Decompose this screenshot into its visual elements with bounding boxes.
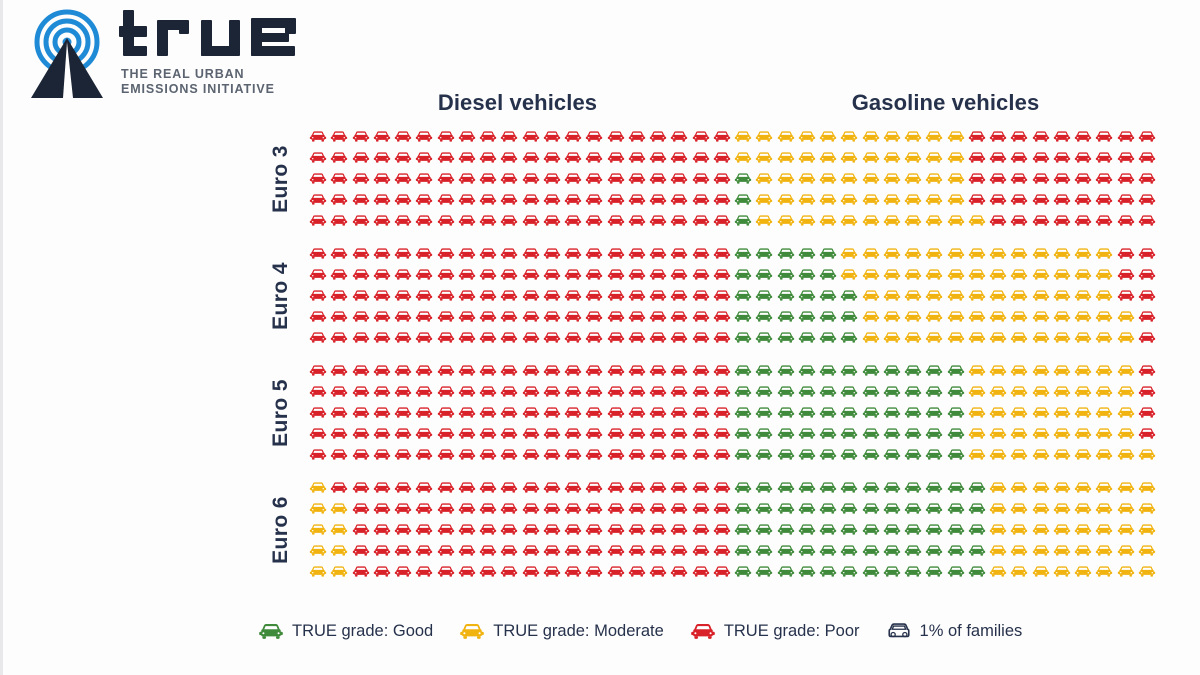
car-cell-good bbox=[924, 498, 945, 519]
car-icon bbox=[394, 213, 412, 228]
car-cell-poor bbox=[712, 444, 733, 465]
car-cell-poor bbox=[414, 243, 435, 264]
car-cell-moderate bbox=[1052, 519, 1073, 540]
car-icon bbox=[373, 309, 391, 324]
car-icon bbox=[479, 213, 497, 228]
car-icon bbox=[925, 246, 943, 261]
tagline-line-1: THE REAL URBAN bbox=[121, 67, 311, 82]
car-icon bbox=[394, 150, 412, 165]
car-cell-poor bbox=[691, 264, 712, 285]
car-icon bbox=[713, 480, 731, 495]
car-icon bbox=[904, 564, 922, 579]
car-cell-moderate bbox=[861, 243, 882, 264]
car-icon bbox=[543, 192, 561, 207]
car-icon bbox=[543, 150, 561, 165]
car-cell-poor bbox=[393, 519, 414, 540]
car-icon bbox=[649, 288, 667, 303]
car-cell-moderate bbox=[1031, 327, 1052, 348]
car-icon bbox=[330, 426, 348, 441]
car-icon bbox=[1053, 288, 1071, 303]
car-icon bbox=[904, 405, 922, 420]
car-icon bbox=[904, 309, 922, 324]
car-icon bbox=[1095, 363, 1113, 378]
car-icon bbox=[330, 267, 348, 282]
car-cell-good bbox=[946, 444, 967, 465]
car-icon bbox=[1074, 447, 1092, 462]
car-cell-moderate bbox=[1009, 285, 1030, 306]
car-icon bbox=[947, 309, 965, 324]
car-cell-moderate bbox=[818, 168, 839, 189]
car-icon bbox=[1032, 246, 1050, 261]
car-icon bbox=[734, 330, 752, 345]
car-cell-poor bbox=[351, 126, 372, 147]
car-cell-good bbox=[818, 360, 839, 381]
car-cell-poor bbox=[414, 423, 435, 444]
car-cell-poor bbox=[669, 306, 690, 327]
car-icon bbox=[649, 171, 667, 186]
car-icon bbox=[1117, 330, 1135, 345]
car-cell-poor bbox=[584, 285, 605, 306]
car-icon bbox=[415, 384, 433, 399]
car-icon bbox=[415, 405, 433, 420]
car-cell-moderate bbox=[1094, 381, 1115, 402]
car-cell-moderate bbox=[1116, 444, 1137, 465]
car-icon bbox=[585, 384, 603, 399]
car-cell-poor bbox=[542, 360, 563, 381]
car-icon bbox=[713, 564, 731, 579]
car-icon bbox=[500, 129, 518, 144]
car-icon bbox=[458, 267, 476, 282]
car-cell-moderate bbox=[946, 210, 967, 231]
car-cell-poor bbox=[351, 210, 372, 231]
car-cell-moderate bbox=[1009, 423, 1030, 444]
car-cell-good bbox=[882, 381, 903, 402]
car-icon bbox=[713, 288, 731, 303]
car-cell-poor bbox=[584, 168, 605, 189]
car-cell-moderate bbox=[797, 147, 818, 168]
car-cell-poor bbox=[499, 327, 520, 348]
car-cell-moderate bbox=[861, 147, 882, 168]
car-cell-poor bbox=[563, 360, 584, 381]
car-cell-poor bbox=[308, 444, 329, 465]
car-cell-good bbox=[754, 381, 775, 402]
car-icon bbox=[883, 363, 901, 378]
car-icon bbox=[755, 384, 773, 399]
car-cell-moderate bbox=[967, 423, 988, 444]
car-icon bbox=[437, 129, 455, 144]
car-icon bbox=[458, 363, 476, 378]
car-icon bbox=[500, 309, 518, 324]
car-cell-poor bbox=[584, 264, 605, 285]
car-icon bbox=[777, 213, 795, 228]
car-cell-poor bbox=[393, 285, 414, 306]
car-icon bbox=[585, 522, 603, 537]
car-cell-moderate bbox=[1031, 306, 1052, 327]
car-icon bbox=[968, 522, 986, 537]
car-cell-poor bbox=[478, 381, 499, 402]
car-cell-poor bbox=[521, 561, 542, 582]
car-cell-poor bbox=[691, 210, 712, 231]
car-icon bbox=[713, 363, 731, 378]
car-icon bbox=[777, 522, 795, 537]
car-cell-moderate bbox=[1094, 264, 1115, 285]
car-cell-poor bbox=[393, 444, 414, 465]
car-icon bbox=[692, 150, 710, 165]
car-icon bbox=[628, 426, 646, 441]
car-icon bbox=[798, 384, 816, 399]
car-icon bbox=[352, 246, 370, 261]
car-icon bbox=[734, 447, 752, 462]
car-icon bbox=[1074, 330, 1092, 345]
car-cell-poor bbox=[414, 444, 435, 465]
car-cell-poor bbox=[669, 561, 690, 582]
car-cell-moderate bbox=[329, 540, 350, 561]
car-cell-good bbox=[754, 360, 775, 381]
car-cell-moderate bbox=[1073, 498, 1094, 519]
car-icon bbox=[330, 405, 348, 420]
car-cell-poor bbox=[1009, 210, 1030, 231]
car-cell-poor bbox=[372, 381, 393, 402]
car-icon bbox=[883, 267, 901, 282]
car-icon bbox=[734, 363, 752, 378]
car-cell-poor bbox=[712, 519, 733, 540]
car-icon bbox=[670, 129, 688, 144]
car-cell-moderate bbox=[776, 189, 797, 210]
car-cell-moderate bbox=[988, 264, 1009, 285]
car-icon bbox=[394, 564, 412, 579]
car-icon bbox=[500, 246, 518, 261]
car-icon bbox=[1032, 522, 1050, 537]
car-icon bbox=[777, 129, 795, 144]
car-icon bbox=[585, 501, 603, 516]
car-cell-moderate bbox=[1073, 327, 1094, 348]
car-cell-moderate bbox=[861, 327, 882, 348]
car-cell-poor bbox=[436, 210, 457, 231]
car-cell-moderate bbox=[1073, 381, 1094, 402]
car-cell-poor bbox=[521, 306, 542, 327]
car-icon bbox=[925, 309, 943, 324]
car-cell-poor bbox=[457, 189, 478, 210]
car-icon bbox=[415, 363, 433, 378]
car-icon bbox=[1032, 480, 1050, 495]
car-cell-poor bbox=[372, 285, 393, 306]
car-icon bbox=[692, 309, 710, 324]
car-icon bbox=[1010, 501, 1028, 516]
car-icon bbox=[500, 150, 518, 165]
car-cell-poor bbox=[457, 168, 478, 189]
car-icon bbox=[734, 288, 752, 303]
car-cell-poor bbox=[691, 498, 712, 519]
car-icon bbox=[479, 288, 497, 303]
car-icon bbox=[925, 501, 943, 516]
car-icon bbox=[947, 192, 965, 207]
car-cell-good bbox=[733, 168, 754, 189]
car-cell-poor bbox=[1009, 126, 1030, 147]
car-icon bbox=[1010, 171, 1028, 186]
car-cell-poor bbox=[563, 444, 584, 465]
car-cell-poor bbox=[691, 381, 712, 402]
car-cell-good bbox=[818, 444, 839, 465]
car-cell-poor bbox=[351, 477, 372, 498]
car-cell-poor bbox=[542, 477, 563, 498]
car-cell-good bbox=[776, 264, 797, 285]
car-cell-poor bbox=[584, 360, 605, 381]
car-icon bbox=[309, 447, 327, 462]
car-cell-good bbox=[754, 402, 775, 423]
car-icon bbox=[373, 501, 391, 516]
car-icon bbox=[330, 543, 348, 558]
car-icon bbox=[1095, 564, 1113, 579]
car-icon bbox=[522, 129, 540, 144]
car-icon bbox=[500, 330, 518, 345]
car-icon bbox=[734, 192, 752, 207]
car-cell-poor bbox=[967, 189, 988, 210]
car-cell-poor bbox=[669, 423, 690, 444]
car-icon bbox=[415, 447, 433, 462]
car-cell-moderate bbox=[903, 327, 924, 348]
car-icon bbox=[798, 330, 816, 345]
car-cell-moderate bbox=[1094, 561, 1115, 582]
car-icon bbox=[755, 447, 773, 462]
car-icon bbox=[925, 405, 943, 420]
car-icon bbox=[670, 330, 688, 345]
car-cell-good bbox=[818, 402, 839, 423]
car-icon bbox=[628, 447, 646, 462]
car-icon bbox=[522, 447, 540, 462]
car-cell-moderate bbox=[1073, 243, 1094, 264]
car-icon bbox=[607, 246, 625, 261]
car-icon bbox=[819, 309, 837, 324]
car-icon bbox=[500, 384, 518, 399]
car-icon bbox=[989, 192, 1007, 207]
car-cell-poor bbox=[499, 210, 520, 231]
car-cell-good bbox=[818, 423, 839, 444]
car-cell-moderate bbox=[329, 498, 350, 519]
car-cell-poor bbox=[584, 126, 605, 147]
car-icon bbox=[564, 246, 582, 261]
car-icon bbox=[1095, 480, 1113, 495]
car-icon bbox=[862, 363, 880, 378]
chart-legend: TRUE grade: GoodTRUE grade: ModerateTRUE… bbox=[258, 613, 1163, 649]
car-icon bbox=[1074, 426, 1092, 441]
pictogram-block-diesel-euro-5 bbox=[308, 360, 733, 465]
car-icon bbox=[564, 330, 582, 345]
car-cell-poor bbox=[691, 540, 712, 561]
car-icon bbox=[585, 363, 603, 378]
car-icon bbox=[649, 363, 667, 378]
car-icon bbox=[819, 330, 837, 345]
car-icon bbox=[1053, 405, 1071, 420]
car-cell-poor bbox=[712, 210, 733, 231]
car-cell-poor bbox=[691, 126, 712, 147]
car-cell-good bbox=[754, 243, 775, 264]
car-cell-poor bbox=[1073, 126, 1094, 147]
car-icon bbox=[692, 192, 710, 207]
car-cell-good bbox=[861, 444, 882, 465]
car-cell-moderate bbox=[839, 168, 860, 189]
car-cell-good bbox=[797, 264, 818, 285]
car-cell-moderate bbox=[1031, 498, 1052, 519]
car-cell-poor bbox=[712, 402, 733, 423]
car-icon bbox=[500, 543, 518, 558]
car-cell-moderate bbox=[818, 189, 839, 210]
car-cell-poor bbox=[563, 381, 584, 402]
car-icon bbox=[1138, 480, 1156, 495]
car-icon bbox=[1095, 447, 1113, 462]
car-icon bbox=[459, 621, 485, 642]
car-cell-poor bbox=[627, 519, 648, 540]
car-cell-poor bbox=[308, 285, 329, 306]
car-icon bbox=[989, 501, 1007, 516]
car-icon bbox=[883, 309, 901, 324]
car-cell-poor bbox=[329, 381, 350, 402]
car-icon bbox=[415, 480, 433, 495]
car-icon bbox=[798, 543, 816, 558]
car-cell-good bbox=[882, 540, 903, 561]
car-icon bbox=[628, 564, 646, 579]
car-cell-moderate bbox=[1137, 498, 1158, 519]
car-icon bbox=[989, 543, 1007, 558]
car-cell-poor bbox=[414, 189, 435, 210]
car-icon bbox=[458, 543, 476, 558]
car-cell-good bbox=[754, 306, 775, 327]
car-cell-poor bbox=[478, 519, 499, 540]
car-icon bbox=[564, 447, 582, 462]
car-cell-moderate bbox=[1073, 477, 1094, 498]
car-cell-poor bbox=[691, 285, 712, 306]
car-icon bbox=[500, 405, 518, 420]
car-cell-good bbox=[967, 519, 988, 540]
car-icon bbox=[904, 288, 922, 303]
car-cell-poor bbox=[521, 264, 542, 285]
car-icon bbox=[585, 309, 603, 324]
car-cell-poor bbox=[691, 189, 712, 210]
car-cell-moderate bbox=[903, 147, 924, 168]
car-icon bbox=[1010, 192, 1028, 207]
car-icon bbox=[798, 522, 816, 537]
car-cell-poor bbox=[1137, 402, 1158, 423]
car-icon bbox=[649, 426, 667, 441]
car-icon bbox=[543, 447, 561, 462]
car-cell-poor bbox=[584, 519, 605, 540]
car-cell-poor bbox=[627, 540, 648, 561]
legend-item-3: 1% of families bbox=[886, 621, 1023, 642]
car-cell-moderate bbox=[1073, 360, 1094, 381]
car-cell-poor bbox=[627, 168, 648, 189]
car-cell-moderate bbox=[1052, 381, 1073, 402]
car-cell-poor bbox=[648, 306, 669, 327]
car-icon bbox=[734, 246, 752, 261]
car-cell-poor bbox=[521, 168, 542, 189]
car-cell-poor bbox=[988, 210, 1009, 231]
car-icon bbox=[755, 288, 773, 303]
car-icon bbox=[458, 309, 476, 324]
car-icon bbox=[458, 150, 476, 165]
car-cell-moderate bbox=[924, 306, 945, 327]
car-icon bbox=[415, 267, 433, 282]
car-cell-moderate bbox=[776, 168, 797, 189]
euro-standard-row: Euro 3 bbox=[258, 126, 1168, 243]
car-cell-moderate bbox=[967, 444, 988, 465]
car-cell-poor bbox=[712, 540, 733, 561]
car-cell-good bbox=[946, 423, 967, 444]
car-icon bbox=[670, 363, 688, 378]
car-cell-poor bbox=[308, 402, 329, 423]
car-cell-good bbox=[839, 285, 860, 306]
car-cell-poor bbox=[499, 243, 520, 264]
car-cell-poor bbox=[372, 210, 393, 231]
car-icon bbox=[777, 171, 795, 186]
car-cell-poor bbox=[351, 519, 372, 540]
car-icon bbox=[607, 480, 625, 495]
car-cell-poor bbox=[648, 360, 669, 381]
car-icon bbox=[585, 543, 603, 558]
car-icon bbox=[670, 522, 688, 537]
car-icon bbox=[564, 480, 582, 495]
car-icon bbox=[1138, 501, 1156, 516]
car-icon bbox=[352, 426, 370, 441]
car-icon bbox=[925, 384, 943, 399]
car-cell-poor bbox=[499, 498, 520, 519]
car-icon bbox=[925, 447, 943, 462]
car-cell-moderate bbox=[946, 147, 967, 168]
car-icon bbox=[479, 246, 497, 261]
car-cell-poor bbox=[329, 477, 350, 498]
car-icon bbox=[522, 330, 540, 345]
car-cell-good bbox=[733, 210, 754, 231]
car-cell-poor bbox=[478, 540, 499, 561]
car-cell-moderate bbox=[946, 327, 967, 348]
car-cell-poor bbox=[542, 243, 563, 264]
car-icon bbox=[1117, 363, 1135, 378]
car-icon bbox=[522, 480, 540, 495]
car-icon bbox=[437, 309, 455, 324]
car-icon bbox=[415, 330, 433, 345]
car-icon bbox=[649, 522, 667, 537]
car-cell-poor bbox=[457, 561, 478, 582]
car-cell-poor bbox=[1116, 168, 1137, 189]
car-icon bbox=[989, 246, 1007, 261]
car-icon bbox=[607, 363, 625, 378]
car-icon bbox=[394, 330, 412, 345]
car-cell-poor bbox=[691, 444, 712, 465]
car-cell-poor bbox=[521, 381, 542, 402]
car-icon bbox=[968, 192, 986, 207]
car-cell-moderate bbox=[988, 477, 1009, 498]
car-cell-good bbox=[967, 540, 988, 561]
car-cell-poor bbox=[478, 498, 499, 519]
car-icon bbox=[947, 384, 965, 399]
car-cell-moderate bbox=[903, 189, 924, 210]
car-icon bbox=[1074, 171, 1092, 186]
car-icon bbox=[1010, 330, 1028, 345]
car-cell-moderate bbox=[776, 126, 797, 147]
car-icon bbox=[862, 171, 880, 186]
car-cell-moderate bbox=[1137, 477, 1158, 498]
car-cell-poor bbox=[1137, 264, 1158, 285]
car-cell-moderate bbox=[1094, 285, 1115, 306]
car-cell-good bbox=[839, 423, 860, 444]
car-icon bbox=[1010, 267, 1028, 282]
legend-label: 1% of families bbox=[920, 622, 1023, 641]
car-icon bbox=[543, 501, 561, 516]
car-icon bbox=[607, 150, 625, 165]
car-cell-moderate bbox=[776, 147, 797, 168]
car-cell-poor bbox=[627, 561, 648, 582]
car-icon bbox=[373, 564, 391, 579]
car-icon bbox=[755, 363, 773, 378]
car-icon bbox=[883, 480, 901, 495]
